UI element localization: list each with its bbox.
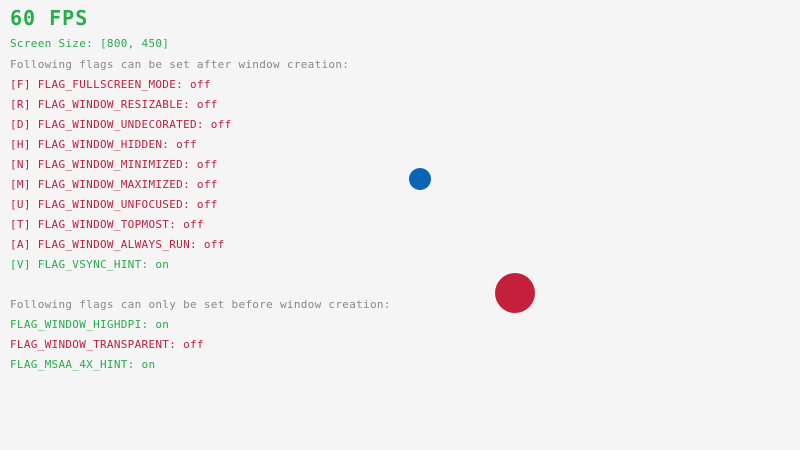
flag-line-msaa-4x-hint: FLAG_MSAA_4X_HINT: on (10, 358, 155, 371)
section-header-after-creation: Following flags can be set after window … (10, 58, 349, 71)
flag-line-window-transparent: FLAG_WINDOW_TRANSPARENT: off (10, 338, 204, 351)
red-circle-shape (495, 273, 535, 313)
app-canvas: 60 FPS Screen Size: [800, 450] Following… (0, 0, 800, 450)
flag-line-vsync-hint[interactable]: [V] FLAG_VSYNC_HINT: on (10, 258, 169, 271)
flag-line-window-highdpi: FLAG_WINDOW_HIGHDPI: on (10, 318, 169, 331)
flag-line-window-always-run[interactable]: [A] FLAG_WINDOW_ALWAYS_RUN: off (10, 238, 225, 251)
flag-line-window-topmost[interactable]: [T] FLAG_WINDOW_TOPMOST: off (10, 218, 204, 231)
section-header-before-creation: Following flags can only be set before w… (10, 298, 391, 311)
screen-size-label: Screen Size: [800, 450] (10, 37, 169, 50)
flag-line-window-hidden[interactable]: [H] FLAG_WINDOW_HIDDEN: off (10, 138, 197, 151)
flag-line-window-maximized[interactable]: [M] FLAG_WINDOW_MAXIMIZED: off (10, 178, 218, 191)
flag-line-window-minimized[interactable]: [N] FLAG_WINDOW_MINIMIZED: off (10, 158, 218, 171)
fps-counter: 60 FPS (10, 6, 88, 30)
flag-line-window-resizable[interactable]: [R] FLAG_WINDOW_RESIZABLE: off (10, 98, 218, 111)
blue-circle-shape (409, 168, 431, 190)
flag-line-fullscreen-mode[interactable]: [F] FLAG_FULLSCREEN_MODE: off (10, 78, 211, 91)
flag-line-window-unfocused[interactable]: [U] FLAG_WINDOW_UNFOCUSED: off (10, 198, 218, 211)
flag-line-window-undecorated[interactable]: [D] FLAG_WINDOW_UNDECORATED: off (10, 118, 232, 131)
